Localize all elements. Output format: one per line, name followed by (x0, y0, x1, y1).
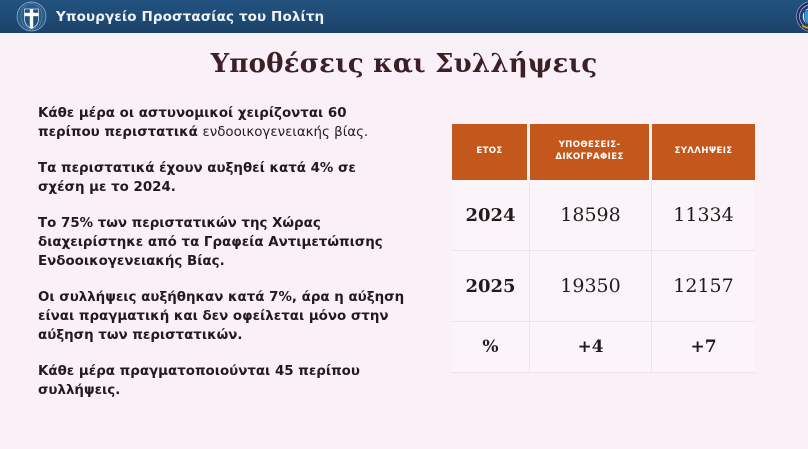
bullet-3-bold: Το 75% των περιστατικών της Χώρας διαχει… (38, 216, 383, 269)
cell-cases-2024: 18598 (530, 180, 652, 251)
ministry-label: Υπουργείο Προστασίας του Πολίτη (56, 9, 324, 25)
bullet-paragraph-3: Το 75% των περιστατικών της Χώρας διαχει… (38, 214, 406, 271)
cell-arrests-percent: +7 (652, 322, 755, 373)
bullet-paragraph-1: Κάθε μέρα οι αστυνομικοί χειρίζονται 60 … (38, 104, 406, 142)
cell-percent-label: % (452, 322, 530, 373)
column-header-arrests: ΣΥΛΛΗΨΕΙΣ (652, 124, 755, 180)
police-hq-brand: Αρχηγείο Ελληνικής Αστυνομίας (796, 0, 808, 33)
table-row: % +4 +7 (452, 322, 755, 373)
bullet-text-column: Κάθε μέρα οι αστυνομικοί χειρίζονται 60 … (38, 104, 406, 400)
cell-arrests-2025: 12157 (652, 251, 755, 322)
bullet-5-bold: Κάθε μέρα πραγματοποιούνται 45 περίπου σ… (38, 364, 360, 398)
bullet-paragraph-2: Τα περιστατικά έχουν αυξηθεί κατά 4% σε … (38, 159, 406, 197)
page-title: Υποθέσεις και Συλλήψεις (0, 49, 808, 79)
cell-year-2024: 2024 (452, 180, 530, 251)
column-header-cases: ΥΠΟΘΕΣΕΙΣ-ΔΙΚΟΓΡΑΦΙΕΣ (530, 124, 652, 180)
cell-cases-percent: +4 (530, 322, 652, 373)
hellenic-police-badge-icon (796, 1, 808, 32)
bullet-2-bold: Τα περιστατικά έχουν αυξηθεί κατά 4% σε … (38, 161, 356, 195)
greek-coat-of-arms-icon (16, 1, 47, 32)
statistics-table: ΕΤΟΣ ΥΠΟΘΕΣΕΙΣ-ΔΙΚΟΓΡΑΦΙΕΣ ΣΥΛΛΗΨΕΙΣ 202… (452, 124, 755, 373)
column-header-year: ΕΤΟΣ (452, 124, 530, 180)
bullet-4-bold: Οι συλλήψεις αυξήθηκαν κατά 7%, άρα η αύ… (38, 290, 404, 343)
bullet-paragraph-4: Οι συλλήψεις αυξήθηκαν κατά 7%, άρα η αύ… (38, 288, 406, 345)
table-header-row: ΕΤΟΣ ΥΠΟΘΕΣΕΙΣ-ΔΙΚΟΓΡΑΦΙΕΣ ΣΥΛΛΗΨΕΙΣ (452, 124, 755, 180)
top-header-bar: Υπουργείο Προστασίας του Πολίτη Αρχηγείο… (0, 0, 808, 33)
table-row: 2025 19350 12157 (452, 251, 755, 322)
cell-cases-2025: 19350 (530, 251, 652, 322)
table-row: 2024 18598 11334 (452, 180, 755, 251)
ministry-brand: Υπουργείο Προστασίας του Πολίτη (16, 0, 324, 33)
bullet-paragraph-5: Κάθε μέρα πραγματοποιούνται 45 περίπου σ… (38, 362, 406, 400)
bullet-1-regular: ενδοοικογενειακής βίας. (203, 125, 369, 140)
cell-arrests-2024: 11334 (652, 180, 755, 251)
cell-year-2025: 2025 (452, 251, 530, 322)
